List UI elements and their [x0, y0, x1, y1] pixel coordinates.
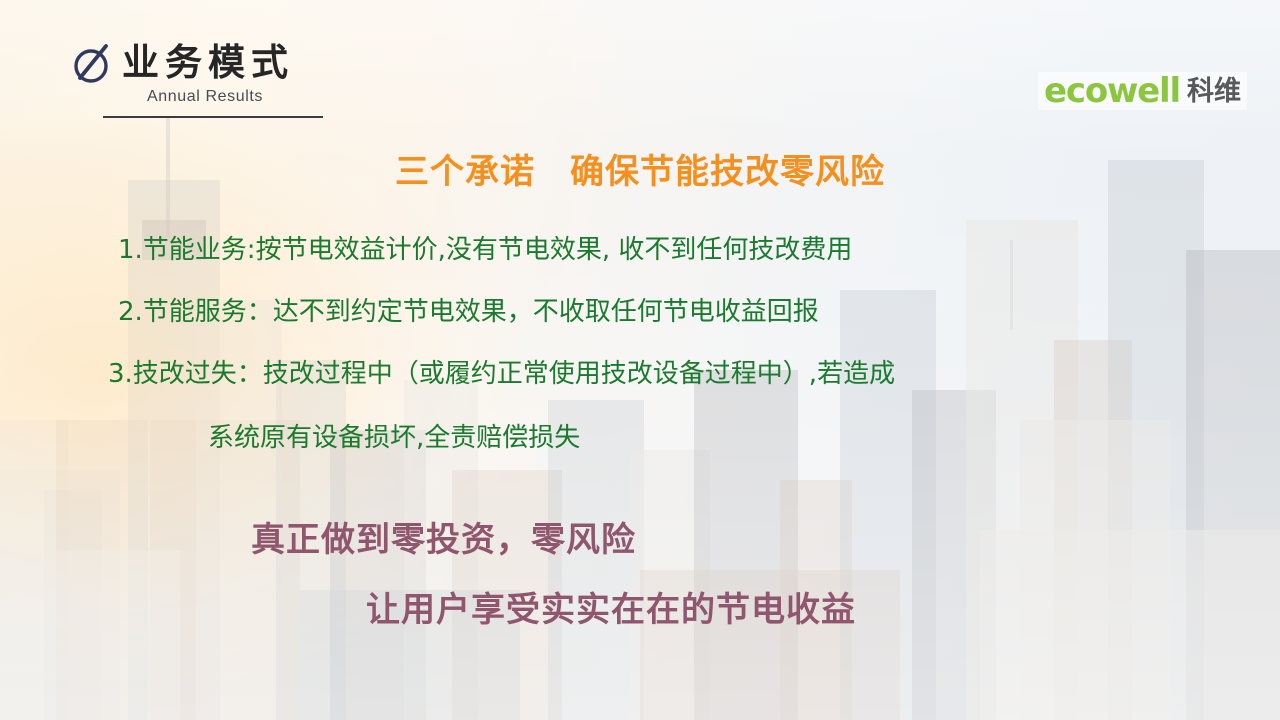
logo-wordmark: ecowell [1044, 74, 1180, 108]
list-item-continuation: 系统原有设备损坏,全责赔偿损失 [208, 424, 580, 453]
page-title: 业务模式 [122, 32, 294, 86]
presentation-slide: 业务模式 Annual Results ecowell 科维 三个承诺 确保节能… [0, 0, 1280, 720]
null-slash-icon [70, 38, 116, 86]
list-item: 1.节能业务:按节电效益计价,没有节电效果, 收不到任何技改费用 [118, 236, 852, 265]
logo-chinese-name: 科维 [1187, 78, 1241, 105]
title-divider [103, 116, 323, 118]
closing-line: 让用户享受实实在在的节电收益 [366, 592, 856, 629]
slide-headline: 三个承诺 确保节能技改零风险 [0, 144, 1280, 193]
page-subtitle: Annual Results [147, 88, 263, 106]
list-item: 2.节能服务：达不到约定节电效果，不收取任何节电收益回报 [118, 298, 819, 327]
closing-line: 真正做到零投资，零风险 [251, 522, 636, 559]
company-logo: ecowell 科维 [1038, 72, 1247, 110]
list-item: 3.技改过失：技改过程中（或履约正常使用技改设备过程中）,若造成 [108, 360, 895, 389]
